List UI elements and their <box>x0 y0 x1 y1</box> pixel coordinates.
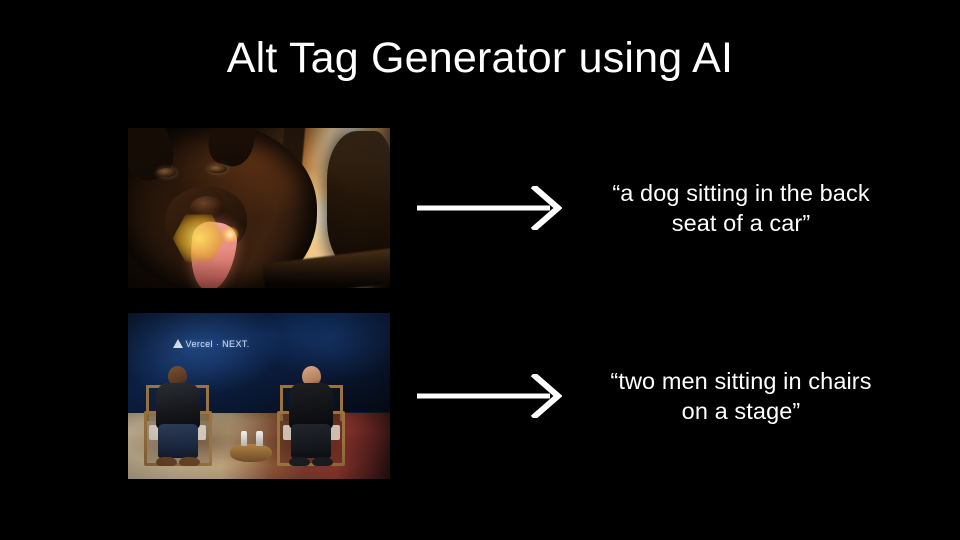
dog-in-car-photo <box>128 128 390 288</box>
slide-canvas: Alt Tag Generator using AI <box>0 0 960 540</box>
arrow-right-icon-row-1 <box>417 186 562 230</box>
alt-text-caption-1: “a dog sitting in the back seat of a car… <box>610 178 872 238</box>
photo-vignette <box>128 128 390 288</box>
arrow-right-icon-row-2 <box>417 374 562 418</box>
page-title: Alt Tag Generator using AI <box>0 34 960 83</box>
photo-vignette <box>128 313 390 479</box>
alt-text-caption-2: “two men sitting in chairs on a stage” <box>610 366 872 426</box>
two-men-on-stage-photo: Vercel · NEXT. <box>128 313 390 479</box>
content-row-2: Vercel · NEXT. <box>0 313 960 479</box>
content-row-1: “a dog sitting in the back seat of a car… <box>0 128 960 288</box>
